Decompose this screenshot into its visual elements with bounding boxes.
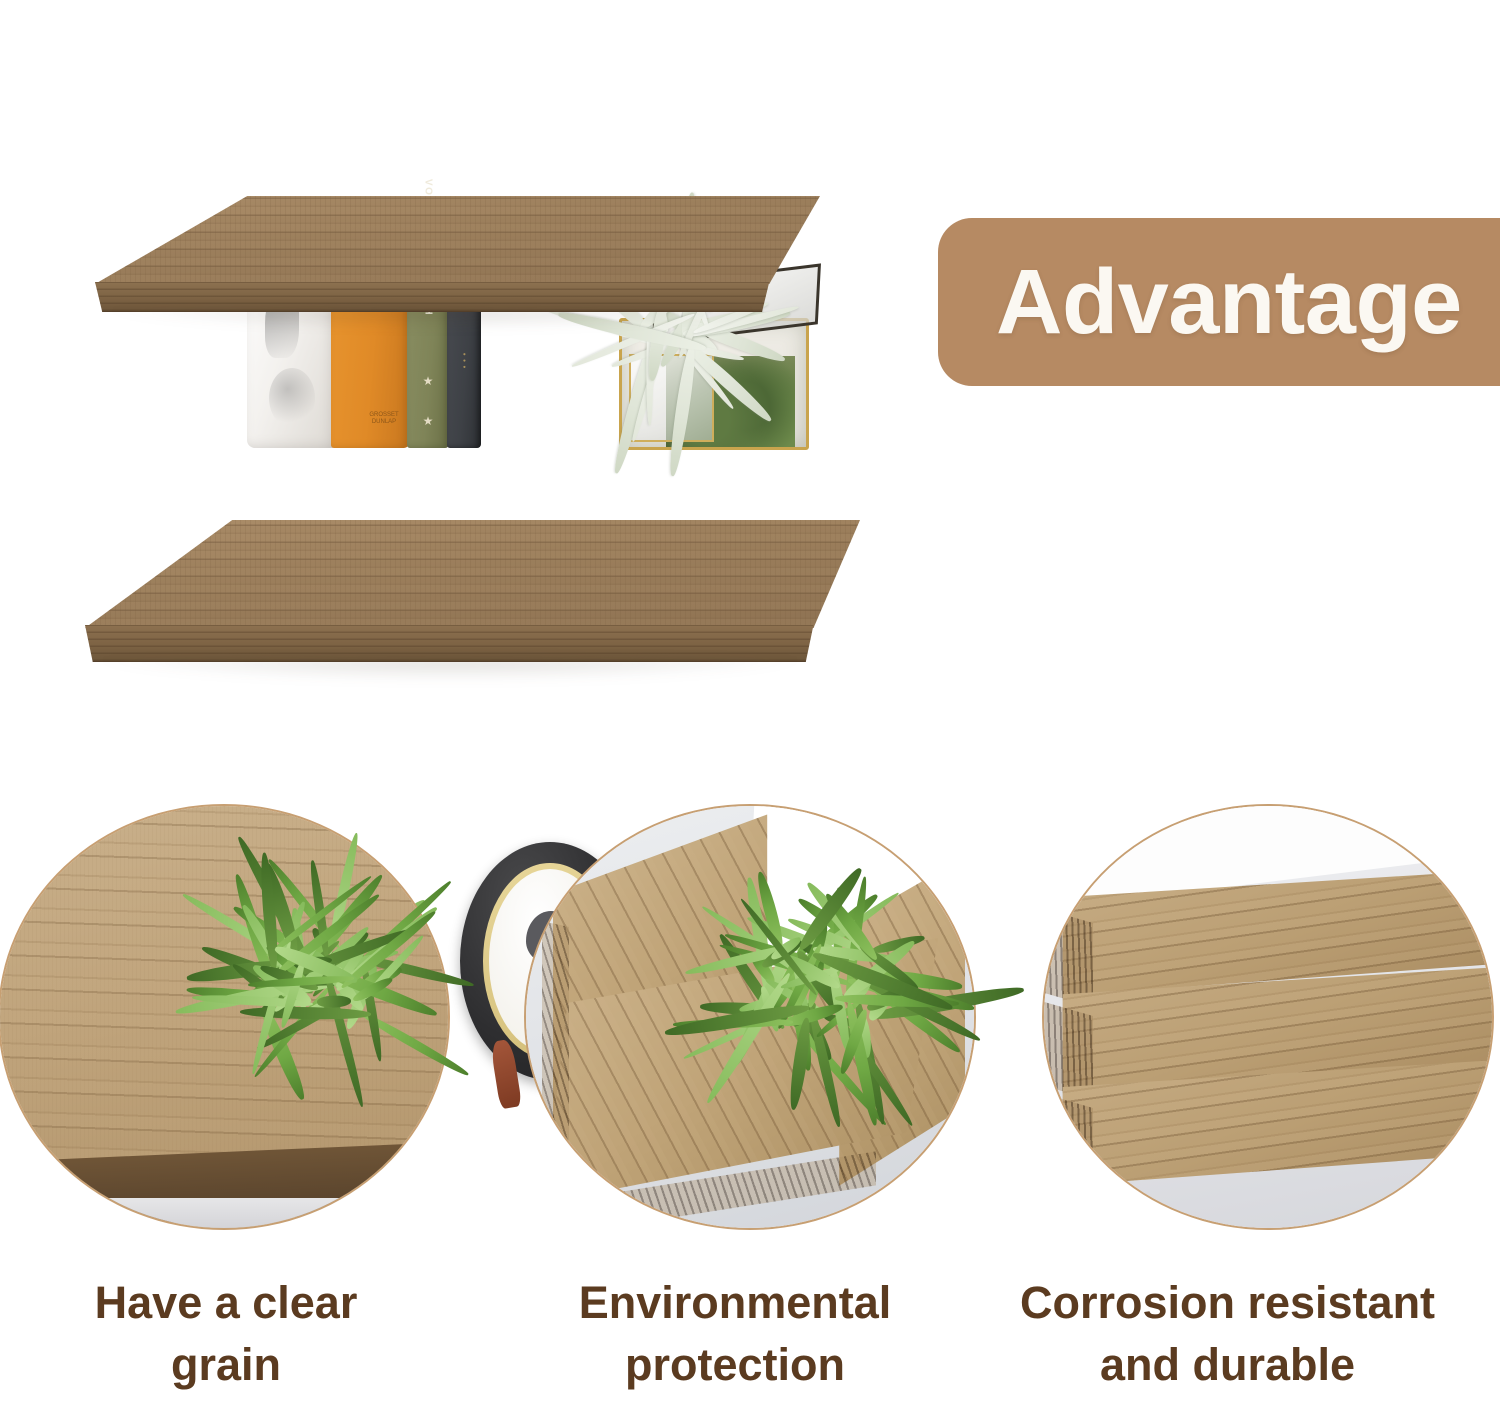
feature-2-caption: Environmental protection: [500, 1272, 970, 1396]
star-icon: ★: [423, 374, 434, 388]
upper-shelf-surface: [95, 196, 820, 284]
feature-1-caption: Have a clear grain: [0, 1272, 452, 1396]
feature-3: [1042, 804, 1494, 1230]
feature-3-caption: Corrosion resistant and durable: [955, 1272, 1500, 1396]
photo-backdrop: [0, 1198, 450, 1228]
feature-2-caption-line-2: protection: [500, 1334, 970, 1396]
lower-shelf-edge: [85, 625, 860, 662]
advantage-badge-label: Advantage: [996, 256, 1462, 348]
feature-3-circle-photo: [1042, 804, 1494, 1230]
book-orange-publisher-mark: GROSSETDUNLAP: [365, 412, 403, 426]
book-dark-spine-marks: ● ● ●: [461, 353, 467, 370]
star-icon: ★: [423, 414, 434, 428]
wood-board-edge-left: [542, 921, 569, 1180]
feature-3-caption-line-1: Corrosion resistant: [955, 1272, 1500, 1334]
feature-1-circle-photo: [0, 804, 450, 1230]
feature-2-caption-line-1: Environmental: [500, 1272, 970, 1334]
stacked-board-middle-edge: [1044, 1001, 1093, 1100]
upper-shelf: MAIDA'SLITTLEHOUSETRYCI GROSSETDUNLAP VO…: [95, 196, 820, 316]
infographic-canvas: MAIDA'SLITTLEHOUSETRYCI GROSSETDUNLAP VO…: [0, 0, 1500, 1410]
stacked-board-top-edge: [1044, 909, 1093, 1008]
lower-shelf-surface: [85, 520, 860, 628]
feature-3-caption-line-2: and durable: [955, 1334, 1500, 1396]
lower-shelf: [85, 520, 860, 665]
feature-1-caption-line-1: Have a clear: [0, 1272, 452, 1334]
feature-1-caption-line-2: grain: [0, 1334, 452, 1396]
lower-shelf-shadow: [95, 658, 805, 682]
advantage-badge: Advantage: [938, 218, 1500, 386]
stacked-board-bottom-edge: [1044, 1094, 1093, 1193]
easel-leg-left: [490, 1039, 522, 1110]
feature-1: [0, 804, 450, 1230]
upper-shelf-shadow: [105, 308, 760, 330]
